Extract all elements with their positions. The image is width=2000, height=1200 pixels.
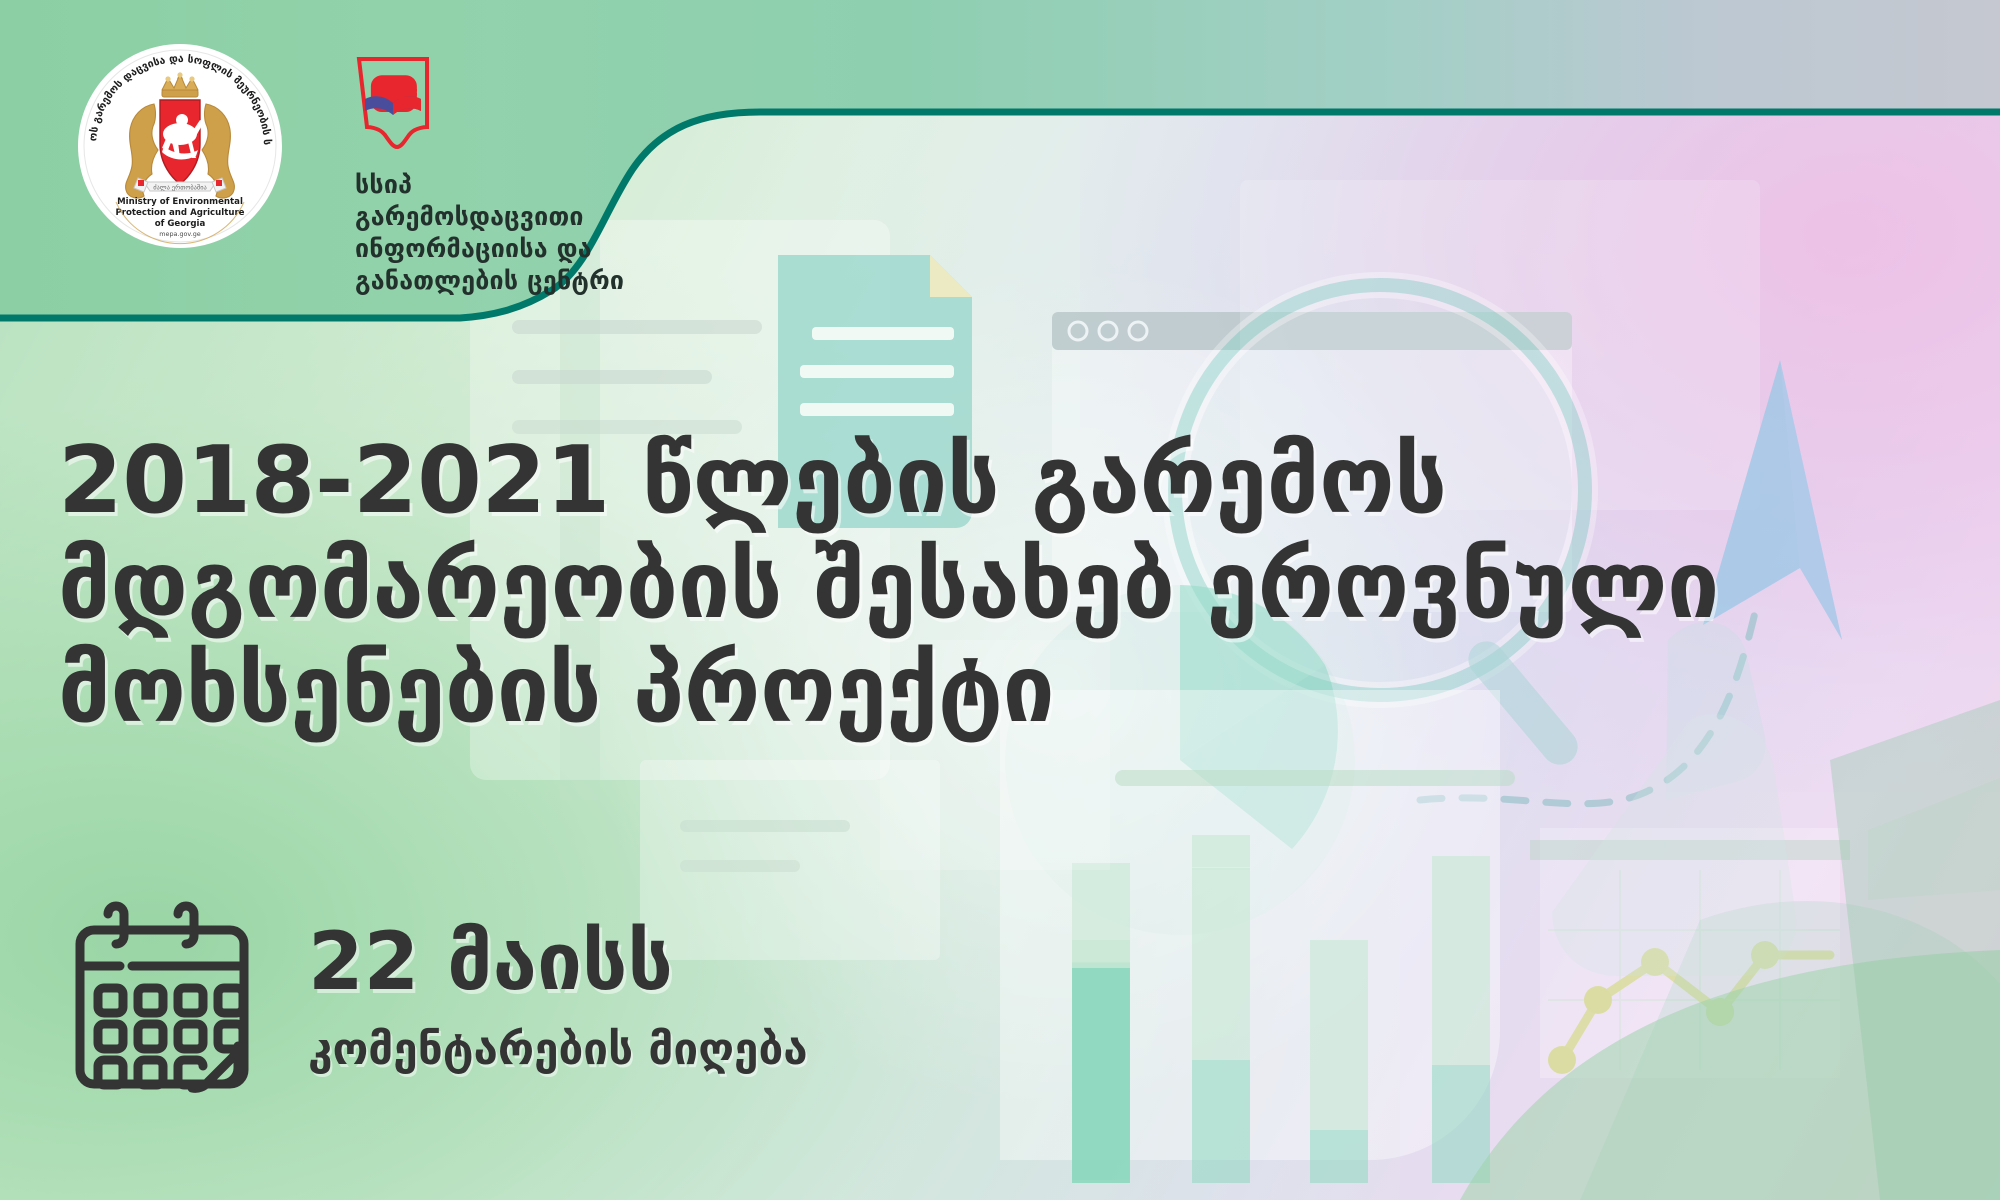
eiec-book-shield-icon	[355, 55, 431, 151]
ribbon-motto: ძალა ერთობაშია	[153, 183, 207, 192]
page-title: 2018-2021 წლების გარემოს მდგომარეობის შე…	[58, 432, 1638, 738]
title-line-3: მოხსენების პროექტი	[58, 641, 1638, 738]
deadline-text: 22 მაისს კომენტარების მიღება	[308, 888, 808, 1072]
eiec-name: სსიპ გარემოსდაცვითი ინფორმაციისა და განა…	[355, 169, 625, 297]
banner-root: საქართველოს გარემოს დაცვისა და სოფლის მე…	[0, 0, 2000, 1200]
deadline-caption: კომენტარების მიღება	[308, 1028, 808, 1072]
ministry-en-line1: Ministry of Environmental	[117, 197, 243, 207]
header-band	[0, 0, 2000, 400]
ministry-en-line3: of Georgia	[155, 219, 206, 229]
ministry-url: mepa.gov.ge	[159, 230, 201, 238]
calendar-icon	[62, 888, 262, 1098]
title-line-1: 2018-2021 წლების გარემოს	[58, 432, 1638, 529]
title-line-2: მდგომარეობის შესახებ ეროვნული	[58, 537, 1638, 634]
deadline-date: 22 მაისს	[308, 922, 808, 1002]
ministry-en-line2: Protection and Agriculture	[115, 208, 244, 218]
eiec-logo-block: სსიპ გარემოსდაცვითი ინფორმაციისა და განა…	[355, 55, 625, 297]
deadline-block: 22 მაისს კომენტარების მიღება	[62, 888, 808, 1098]
ministry-logo: საქართველოს გარემოს დაცვისა და სოფლის მე…	[76, 42, 284, 250]
